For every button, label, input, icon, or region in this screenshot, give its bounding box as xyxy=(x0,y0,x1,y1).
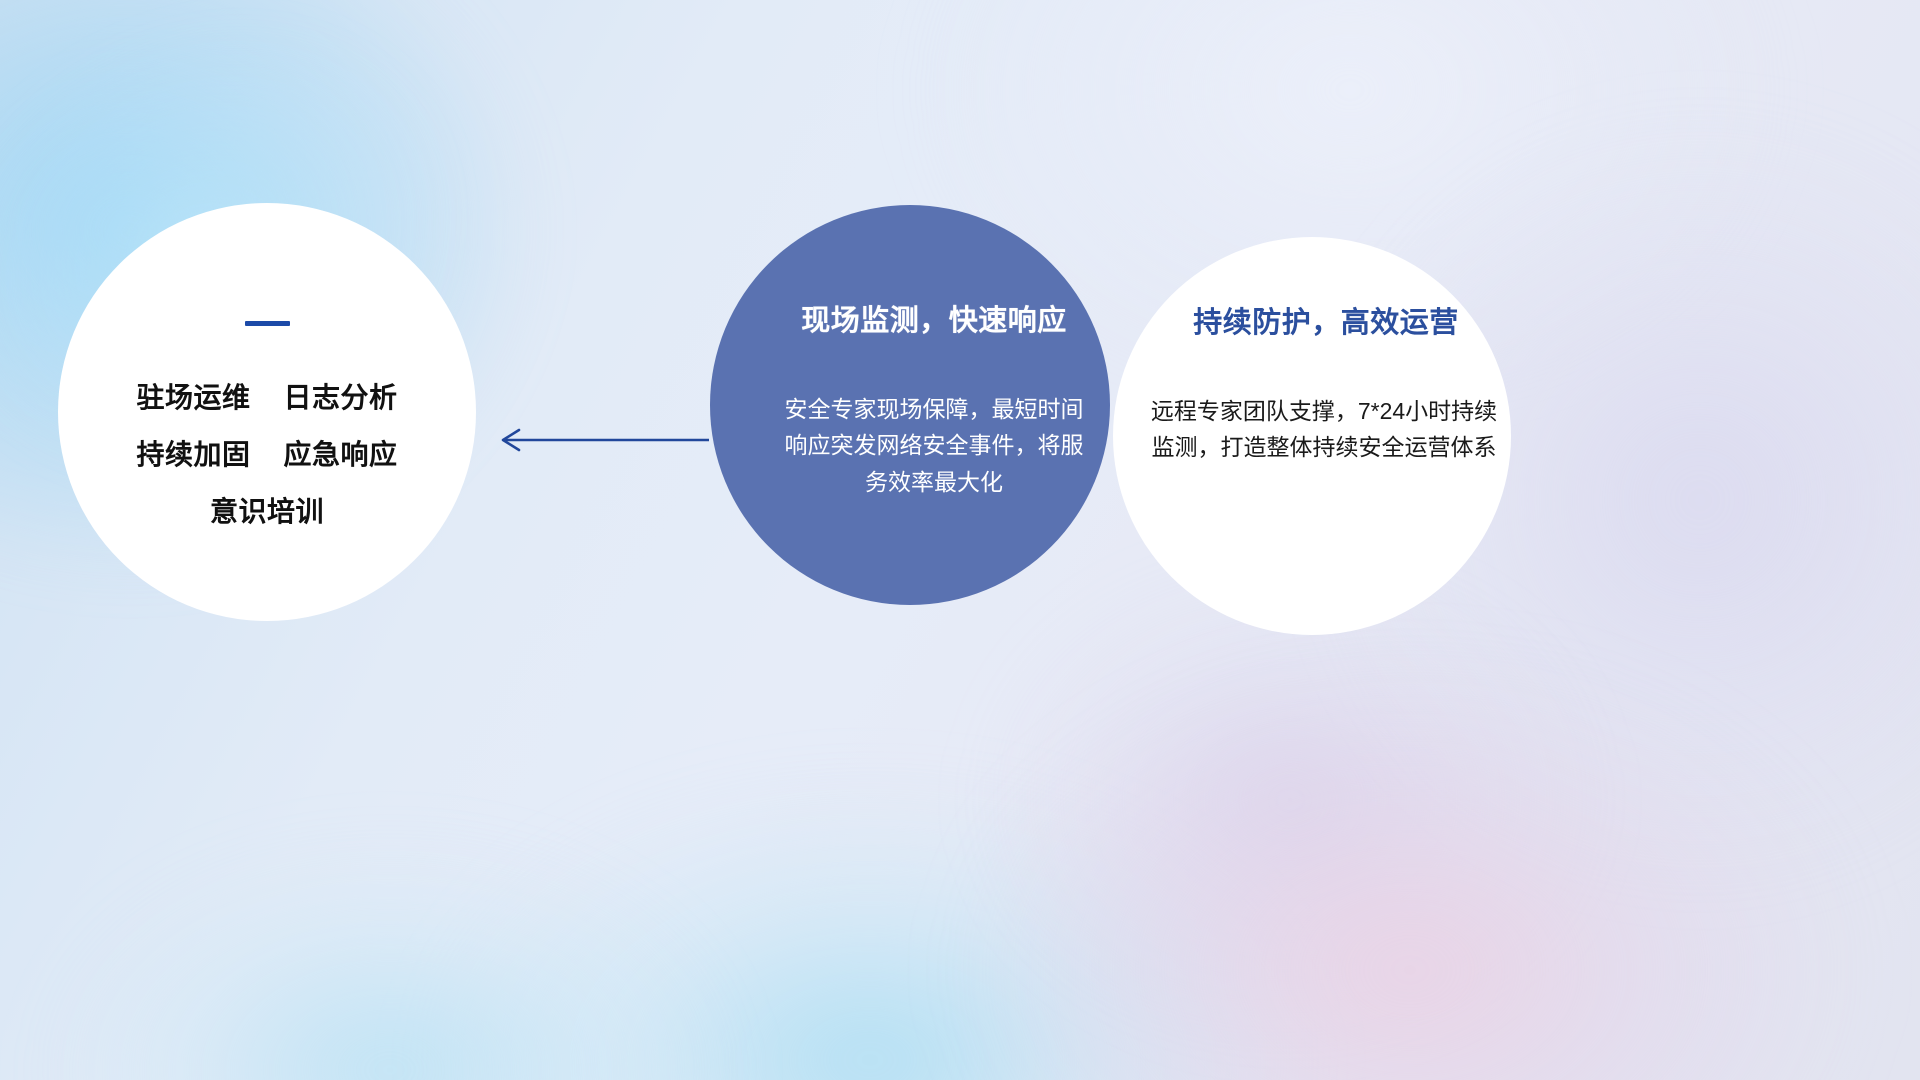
capability-line-1: 驻场运维 日志分析 xyxy=(136,382,397,414)
onsite-monitoring-circle: 现场监测，快速响应 安全专家现场保障，最短时间响应突发网络安全事件，将服务效率最… xyxy=(710,205,1110,605)
onsite-monitoring-body: 安全专家现场保障，最短时间响应突发网络安全事件，将服务效率最大化 xyxy=(784,391,1084,500)
capability-circle: 驻场运维 日志分析 持续加固 应急响应 意识培训 xyxy=(58,203,476,621)
left-arrow-connector xyxy=(495,424,710,456)
slide-canvas: 驻场运维 日志分析 持续加固 应急响应 意识培训 现场监测，快速响应 安全专家现… xyxy=(0,0,1920,1080)
continuous-protection-body: 远程专家团队支撑，7*24小时持续监测，打造整体持续安全运营体系 xyxy=(1146,393,1502,466)
capability-line-3: 意识培训 xyxy=(210,496,324,528)
accent-dash xyxy=(245,321,290,326)
onsite-monitoring-title: 现场监测，快速响应 xyxy=(801,297,1067,339)
continuous-protection-circle: 持续防护，高效运营 远程专家团队支撑，7*24小时持续监测，打造整体持续安全运营… xyxy=(1113,237,1511,635)
capability-line-2: 持续加固 应急响应 xyxy=(136,439,397,471)
continuous-protection-title: 持续防护，高效运营 xyxy=(1193,299,1459,341)
